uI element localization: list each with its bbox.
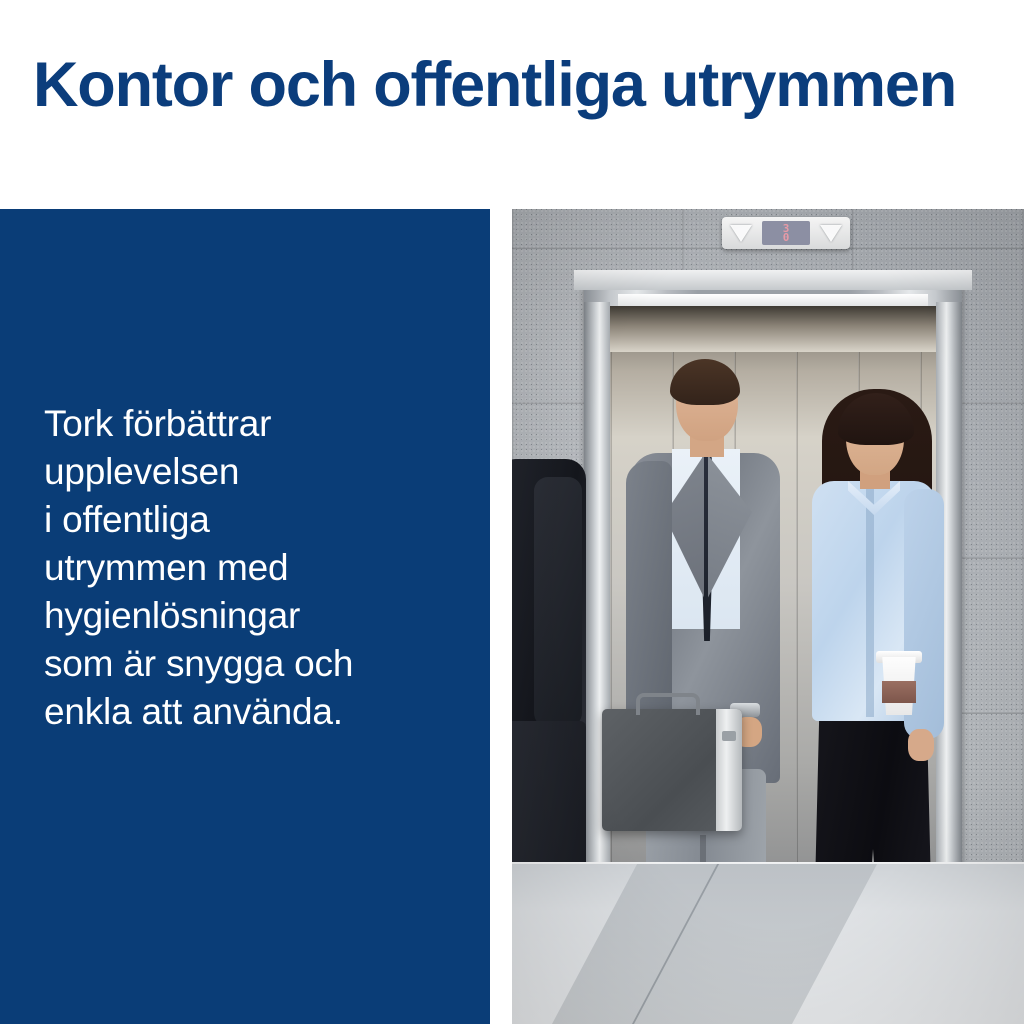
- businesswoman-hand: [908, 729, 934, 761]
- floor-display: 3 0: [762, 221, 810, 245]
- page-title: Kontor och offentliga utrymmen: [33, 52, 1013, 118]
- panel-body-text: Tork förbättrar upplevelsen i offentliga…: [44, 400, 464, 736]
- floor-diagonal-band: [552, 864, 877, 1024]
- lobby-floor: [512, 864, 1024, 1024]
- briefcase-handle: [636, 693, 700, 715]
- cab-light-strip: [618, 294, 928, 306]
- briefcase: [602, 709, 742, 831]
- elevator-lintel: [574, 270, 972, 290]
- briefcase-edge: [716, 709, 742, 831]
- background-person-arm: [534, 477, 582, 727]
- coffee-cup-sleeve: [882, 681, 916, 703]
- businessman-hair: [670, 359, 740, 405]
- businesswoman-blouse-placket: [866, 485, 874, 717]
- up-arrow-icon: [730, 225, 752, 242]
- elevator-photo: 3 0: [512, 209, 1024, 1024]
- down-arrow-icon: [820, 225, 842, 242]
- floor-display-digit-bottom: 0: [783, 233, 790, 242]
- cab-ceiling-glow: [610, 306, 936, 352]
- elevator-floor-indicator: 3 0: [722, 217, 850, 249]
- poster-page: Kontor och offentliga utrymmen Tork förb…: [0, 0, 1024, 1024]
- blue-text-panel: Tork förbättrar upplevelsen i offentliga…: [0, 209, 490, 1024]
- briefcase-lock: [722, 731, 736, 741]
